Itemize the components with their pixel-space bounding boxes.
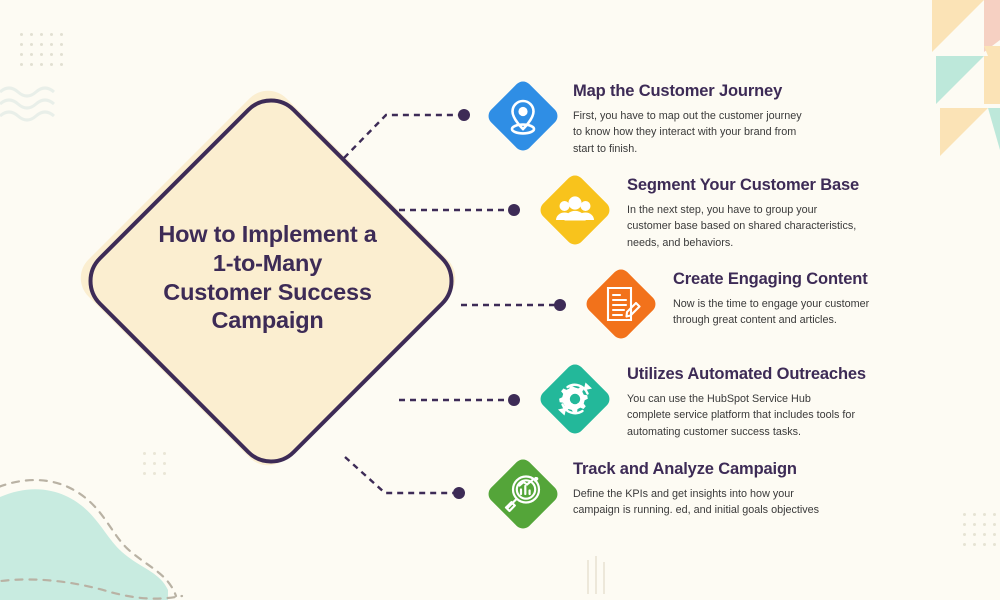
connector-dot-4 xyxy=(508,394,520,406)
step-title-4: Utilizes Automated Outreaches xyxy=(627,365,866,384)
scribble-bottom-right xyxy=(588,556,604,594)
step-item-2[interactable]: Segment Your Customer Base In the next s… xyxy=(537,172,859,251)
step-description-1: First, you have to map out the customer … xyxy=(573,108,802,157)
connector-dot-1 xyxy=(458,109,470,121)
central-diamond: How to Implement a 1-to-Many Customer Su… xyxy=(110,120,425,435)
step-description-5: Define the KPIs and get insights into ho… xyxy=(573,486,819,519)
wave-decoration-left xyxy=(0,88,54,120)
connector-dot-3 xyxy=(554,299,566,311)
corner-triangles-top-right xyxy=(884,0,1000,156)
step-item-5[interactable]: Track and Analyze Campaign Define the KP… xyxy=(485,456,819,532)
blob-bottom-left xyxy=(0,480,182,600)
magnifier-chart-icon xyxy=(485,456,561,532)
step-text-3: Create Engaging Content Now is the time … xyxy=(673,266,869,329)
location-pin-icon xyxy=(485,78,561,154)
step-item-4[interactable]: Utilizes Automated Outreaches You can us… xyxy=(537,361,866,440)
step-title-5: Track and Analyze Campaign xyxy=(573,460,819,479)
step-item-1[interactable]: Map the Customer Journey First, you have… xyxy=(485,78,802,157)
page-title: How to Implement a 1-to-Many Customer Su… xyxy=(110,120,425,435)
connector-dot-2 xyxy=(508,204,520,216)
step-title-3: Create Engaging Content xyxy=(673,270,869,289)
step-text-4: Utilizes Automated Outreaches You can us… xyxy=(627,361,866,440)
step-text-1: Map the Customer Journey First, you have… xyxy=(573,78,802,157)
people-group-icon xyxy=(537,172,613,248)
step-description-3: Now is the time to engage your customer … xyxy=(673,296,869,329)
step-title-2: Segment Your Customer Base xyxy=(627,176,859,195)
step-text-2: Segment Your Customer Base In the next s… xyxy=(627,172,859,251)
document-pencil-icon xyxy=(583,266,659,342)
step-description-4: You can use the HubSpot Service Hub comp… xyxy=(627,391,866,440)
connector-line-5 xyxy=(345,457,458,493)
step-title-1: Map the Customer Journey xyxy=(573,82,802,101)
step-text-5: Track and Analyze Campaign Define the KP… xyxy=(573,456,819,519)
step-item-3[interactable]: Create Engaging Content Now is the time … xyxy=(583,266,869,342)
connector-dot-5 xyxy=(453,487,465,499)
infographic-canvas: How to Implement a 1-to-Many Customer Su… xyxy=(0,0,1000,600)
gear-refresh-icon xyxy=(537,361,613,437)
step-description-2: In the next step, you have to group your… xyxy=(627,202,859,251)
